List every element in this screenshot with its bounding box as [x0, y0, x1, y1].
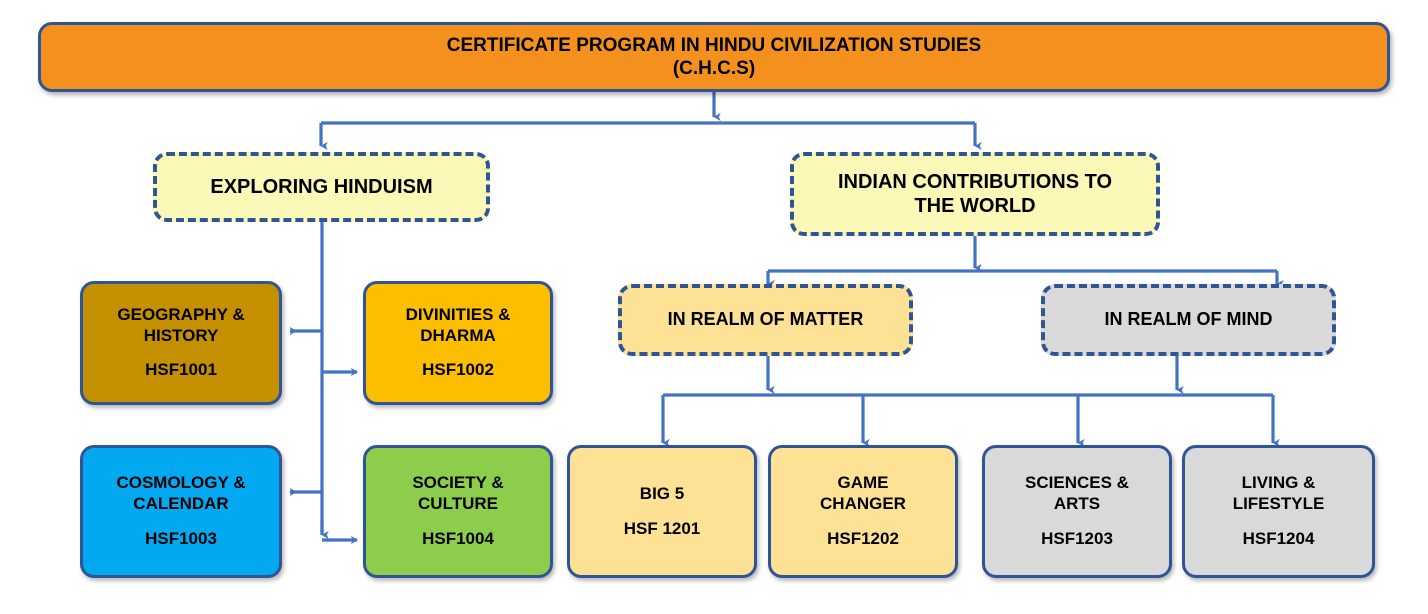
subbranch-realm-of-matter[interactable]: IN REALM OF MATTER [618, 284, 913, 356]
branch-exploring-hinduism[interactable]: EXPLORING HINDUISM [153, 152, 490, 222]
course-big-5-code: HSF 1201 [624, 519, 701, 540]
course-living-lifestyle-line2: LIFESTYLE [1233, 494, 1325, 515]
course-geography-history-code: HSF1001 [145, 360, 217, 381]
course-game-changer-line2: CHANGER [820, 494, 906, 515]
course-game-changer-line1: GAME [838, 473, 889, 494]
subbranch-realm-of-mind-label: IN REALM OF MIND [1105, 309, 1273, 331]
subbranch-realm-of-matter-label: IN REALM OF MATTER [668, 309, 864, 331]
course-cosmology-calendar-line2: CALENDAR [133, 494, 228, 515]
root-node-certificate-program[interactable]: CERTIFICATE PROGRAM IN HINDU CIVILIZATIO… [38, 22, 1390, 92]
course-divinities-dharma-code: HSF1002 [422, 360, 494, 381]
course-game-changer-code: HSF1202 [827, 529, 899, 550]
course-cosmology-calendar-line1: COSMOLOGY & [116, 473, 245, 494]
course-divinities-dharma[interactable]: DIVINITIES & DHARMA HSF1002 [363, 281, 553, 405]
flowchart-canvas: CERTIFICATE PROGRAM IN HINDU CIVILIZATIO… [0, 0, 1428, 614]
course-living-lifestyle-line1: LIVING & [1242, 473, 1316, 494]
course-sciences-arts-line2: ARTS [1054, 494, 1100, 515]
course-game-changer[interactable]: GAME CHANGER HSF1202 [768, 445, 958, 578]
course-sciences-arts[interactable]: SCIENCES & ARTS HSF1203 [982, 445, 1172, 578]
course-big-5-line1: BIG 5 [640, 484, 684, 505]
branch-indian-contributions-line2: THE WORLD [914, 194, 1035, 218]
course-divinities-dharma-line2: DHARMA [420, 326, 496, 347]
course-living-lifestyle[interactable]: LIVING & LIFESTYLE HSF1204 [1182, 445, 1375, 578]
course-sciences-arts-line1: SCIENCES & [1025, 473, 1129, 494]
course-big-5[interactable]: BIG 5 HSF 1201 [567, 445, 757, 578]
course-sciences-arts-code: HSF1203 [1041, 529, 1113, 550]
root-title-line1: CERTIFICATE PROGRAM IN HINDU CIVILIZATIO… [447, 34, 981, 57]
branch-exploring-hinduism-label: EXPLORING HINDUISM [210, 175, 432, 199]
course-society-culture-line1: SOCIETY & [412, 473, 503, 494]
course-geography-history-line1: GEOGRAPHY & [117, 305, 244, 326]
course-society-culture-line2: CULTURE [418, 494, 498, 515]
course-cosmology-calendar-code: HSF1003 [145, 529, 217, 550]
course-divinities-dharma-line1: DIVINITIES & [406, 305, 511, 326]
root-title-line2: (C.H.C.S) [673, 57, 755, 80]
branch-indian-contributions-line1: INDIAN CONTRIBUTIONS TO [838, 170, 1112, 194]
subbranch-realm-of-mind[interactable]: IN REALM OF MIND [1041, 284, 1336, 356]
course-living-lifestyle-code: HSF1204 [1243, 529, 1315, 550]
course-society-culture[interactable]: SOCIETY & CULTURE HSF1004 [363, 445, 553, 578]
course-society-culture-code: HSF1004 [422, 529, 494, 550]
branch-indian-contributions[interactable]: INDIAN CONTRIBUTIONS TO THE WORLD [790, 152, 1160, 236]
course-cosmology-calendar[interactable]: COSMOLOGY & CALENDAR HSF1003 [80, 445, 282, 578]
course-geography-history[interactable]: GEOGRAPHY & HISTORY HSF1001 [80, 281, 282, 405]
course-geography-history-line2: HISTORY [144, 326, 219, 347]
